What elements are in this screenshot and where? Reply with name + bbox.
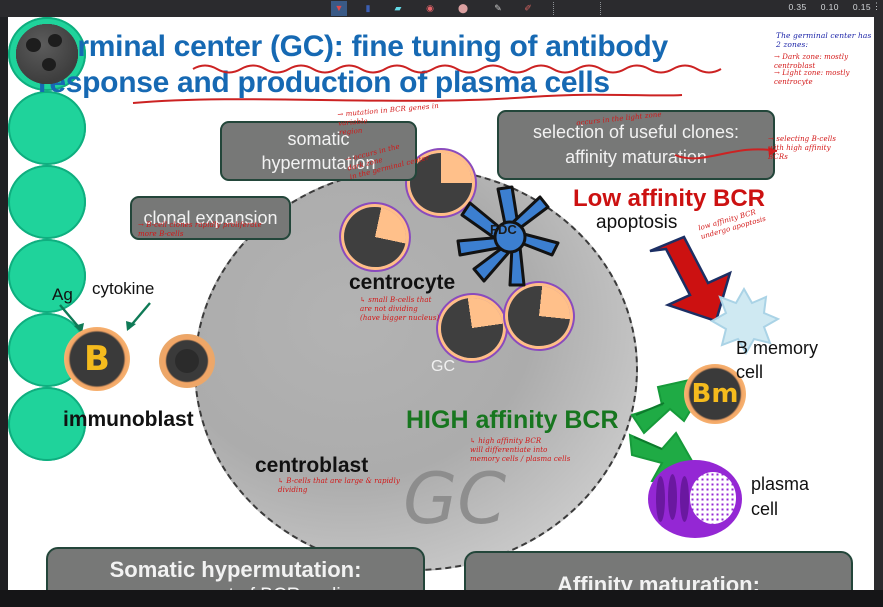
annotation-zones-title: The germinal center has 2 zones: [776,31,874,49]
plasma-er-stripe [668,474,677,520]
highlight-icon[interactable]: ◉ [422,1,438,16]
label-high-affinity-bcr: HIGH affinity BCR [406,406,619,435]
box-sel-line2: affinity maturation [565,145,707,170]
label-apoptosis: apoptosis [596,212,677,234]
immunoblast-nucleus [175,349,199,373]
label-cytokine: cytokine [92,279,154,299]
label-fdc: FDC [490,222,517,237]
plasma-er-stripe [656,476,665,522]
gc-inner-label: GC [431,358,455,376]
footer-affinity-title: Affinity maturation: [557,571,760,590]
b-cell-glyph: B [84,339,110,379]
right-rail [874,17,883,607]
nucleus-dot [26,38,41,52]
toolbar-divider-2 [600,2,602,15]
cytokine-arrow-icon [120,301,156,335]
fdc-cell-icon [448,185,568,295]
slide-canvas: Germinal center (GC): fine tuning of ant… [8,17,874,590]
plasma-er-stripe [680,476,689,522]
label-low-affinity-bcr: Low affinity BCR [573,185,765,213]
centroblast-cell [8,239,86,313]
annotation-clonal: → B-cell clones rapidly proliferate more… [138,221,288,239]
overflow-menu-icon[interactable]: ⋮ [872,2,881,11]
gc-watermark: GC [403,464,506,534]
value-1: 0.35 [789,2,807,12]
footer-box-somatic-hypermutation[interactable]: Somatic hypermutation: rearrangement of … [46,547,425,590]
bookmark-icon[interactable]: ▮ [360,1,376,16]
title-line-1: Germinal center (GC): fine tuning of ant… [38,30,668,63]
footer-somatic-title: Somatic hypermutation: [110,556,362,583]
pen-icon[interactable]: ✎ [490,1,506,16]
opacity-values[interactable]: 0.35 0.10 0.15 [789,2,871,12]
footer-box-affinity-maturation[interactable]: Affinity maturation: selection of high a… [464,551,853,590]
label-centroblast: centroblast [255,454,368,478]
annotation-centroblast: ↳ B-cells that are large & rapidly divid… [278,477,428,495]
bm-cell-glyph: Bm [692,379,739,409]
annotation-light-zone: → Light zone: mostly centrocyte [774,69,874,87]
annotation-toolbar[interactable]: ▼ ▮ ▰ ◉ ⬤ ✎ ✐ 0.35 0.10 0.15 ⋮ [0,0,883,17]
label-ag: Ag [52,285,73,305]
immunoblast-cell [159,334,215,388]
pin-icon[interactable]: ▼ [331,1,347,16]
label-immunoblast: immunoblast [63,408,194,432]
marker-icon[interactable]: ✐ [520,1,536,16]
title-line-2: response and production of plasma cells [38,65,778,101]
bottom-bar [0,590,883,607]
value-2: 0.10 [821,2,839,12]
box-sel-line1: selection of useful clones: [533,120,739,145]
note-icon[interactable]: ▰ [390,1,406,16]
centroblast-cell [8,91,86,165]
label-centrocyte: centrocyte [349,271,455,295]
label-plasma-cell: plasma cell [751,472,809,522]
value-3: 0.15 [853,2,871,12]
label-b-memory-cell: B memory cell [736,336,856,384]
centroblast-cell [8,165,86,239]
nucleus-dot [48,34,62,47]
annotation-high-affinity: ↳ high affinity BCR will differentiate i… [470,437,620,464]
annotation-centrocyte: ↳ small B-cells that are not dividing (h… [360,296,490,323]
screenshot-root: ▼ ▮ ▰ ◉ ⬤ ✎ ✐ 0.35 0.10 0.15 ⋮ [0,0,883,607]
page-title: Germinal center (GC): fine tuning of ant… [38,29,778,101]
cell-nucleus [16,24,78,84]
annotation-selection-right: → selecting B-cells with high affinity B… [768,135,874,162]
toolbar-divider [553,2,555,15]
plasma-cell [648,460,742,538]
plasma-nucleus [690,472,736,524]
nucleus-dot [42,58,56,71]
footer-somatic-sub1: rearrangement of BCR coding [109,583,361,591]
b-cell: B [64,327,130,391]
eraser-icon[interactable]: ⬤ [455,1,471,16]
